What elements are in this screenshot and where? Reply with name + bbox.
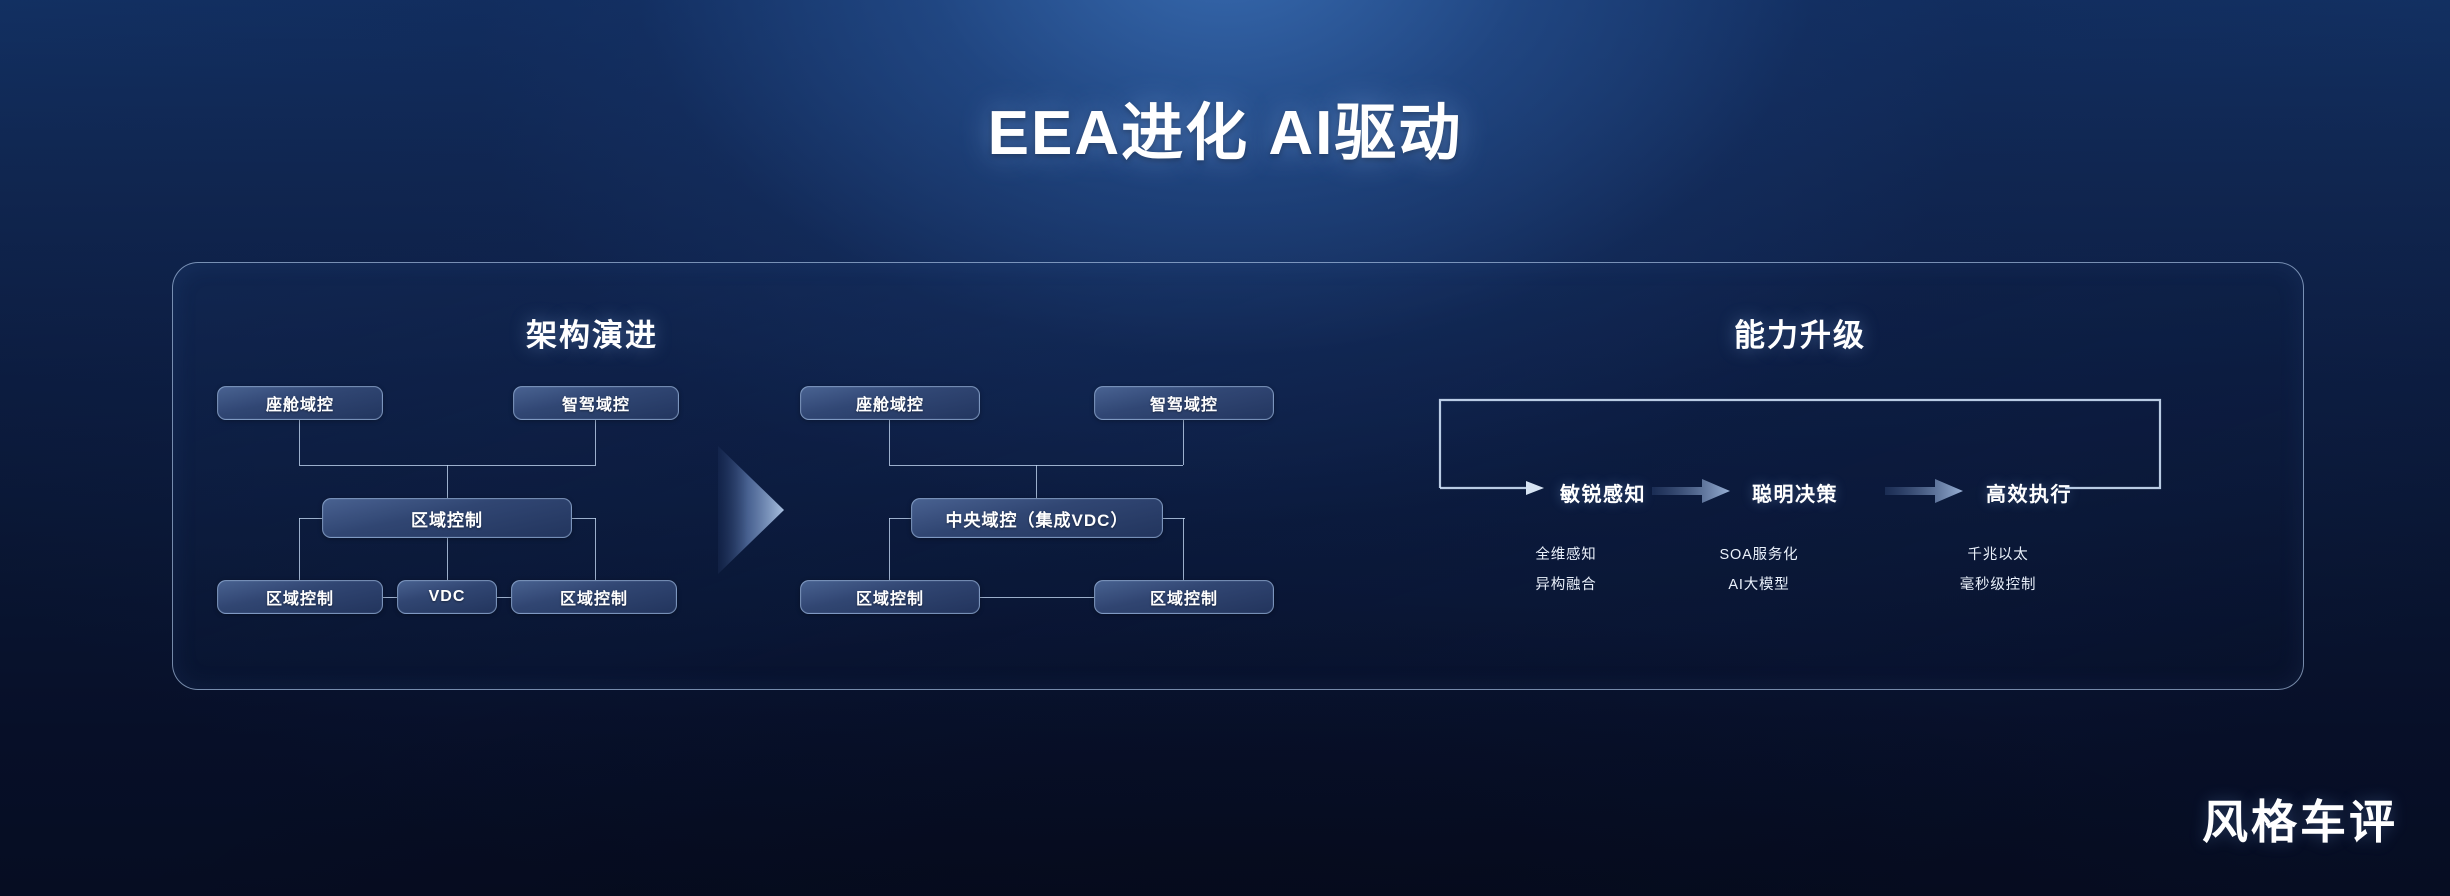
connector-bottom-right-link-before [497, 597, 511, 598]
capability-step-title-3: 高效执行 [1986, 478, 2072, 507]
capability-step-title-2: 聪明决策 [1752, 478, 1838, 507]
connector-cockpit-drop-after [889, 420, 890, 465]
connector-center-left-drop-before [299, 518, 300, 580]
connector-center-right-stub-before [572, 518, 596, 519]
page-title: EEA进化 AI驱动 [0, 82, 2450, 172]
node-zone-control-right-before[interactable]: 区域控制 [511, 580, 677, 614]
node-central-domain-after[interactable]: 中央域控（集成VDC） [911, 498, 1163, 538]
capability-step-sub-2-line1: SOA服务化 [1666, 540, 1852, 570]
capability-step-sub-3-line1: 千兆以太 [1900, 540, 2096, 570]
connector-bus-to-center-after [1036, 465, 1037, 498]
capability-step-sub-2: SOA服务化 AI大模型 [1666, 540, 1852, 600]
capability-step-title-1: 敏锐感知 [1560, 478, 1646, 507]
connector-cockpit-drop-before [299, 420, 300, 465]
node-zone-control-left-before[interactable]: 区域控制 [217, 580, 383, 614]
connector-center-right-drop-before [595, 518, 596, 580]
feedback-loop-icon [1430, 392, 2170, 532]
capability-step-sub-1-line1: 全维感知 [1480, 540, 1652, 570]
capability-step-sub-1: 全维感知 异构融合 [1480, 540, 1652, 600]
flow-arrow-icon-2 [1885, 478, 1963, 504]
node-vdc-before[interactable]: VDC [397, 580, 497, 614]
capability-step-sub-3-line2: 毫秒级控制 [1900, 570, 2096, 600]
node-cockpit-domain-after[interactable]: 座舱域控 [800, 386, 980, 420]
connector-bus-to-center-before [447, 465, 448, 498]
slide-canvas: EEA进化 AI驱动 架构演进 座舱域控 智驾域控 区域控制 区域控制 VDC … [0, 0, 2450, 896]
node-zone-control-right-after[interactable]: 区域控制 [1094, 580, 1274, 614]
node-ads-domain-after[interactable]: 智驾域控 [1094, 386, 1274, 420]
capability-step-sub-3: 千兆以太 毫秒级控制 [1900, 540, 2096, 600]
connector-center-left-stub-after [889, 518, 911, 519]
watermark: 风格车评 [2202, 786, 2398, 852]
connector-center-to-vdc-before [447, 538, 448, 580]
connector-ads-drop-before [595, 420, 596, 465]
section-heading-capability: 能力升级 [1734, 310, 1866, 355]
connector-center-left-stub-before [299, 518, 323, 519]
connector-center-left-drop-after [889, 518, 890, 580]
connector-center-right-drop-after [1183, 518, 1184, 580]
node-cockpit-domain-before[interactable]: 座舱域控 [217, 386, 383, 420]
capability-step-sub-1-line2: 异构融合 [1480, 570, 1652, 600]
capability-step-sub-2-line2: AI大模型 [1666, 570, 1852, 600]
connector-center-right-stub-after [1163, 518, 1185, 519]
node-ads-domain-before[interactable]: 智驾域控 [513, 386, 679, 420]
node-zone-control-left-after[interactable]: 区域控制 [800, 580, 980, 614]
evolution-arrow-icon [718, 446, 784, 574]
node-zone-control-center-before[interactable]: 区域控制 [322, 498, 572, 538]
flow-arrow-icon-1 [1652, 478, 1730, 504]
connector-bottom-bus-after [980, 597, 1094, 598]
section-heading-architecture: 架构演进 [526, 310, 658, 355]
connector-ads-drop-after [1183, 420, 1184, 465]
connector-bottom-left-link-before [383, 597, 397, 598]
